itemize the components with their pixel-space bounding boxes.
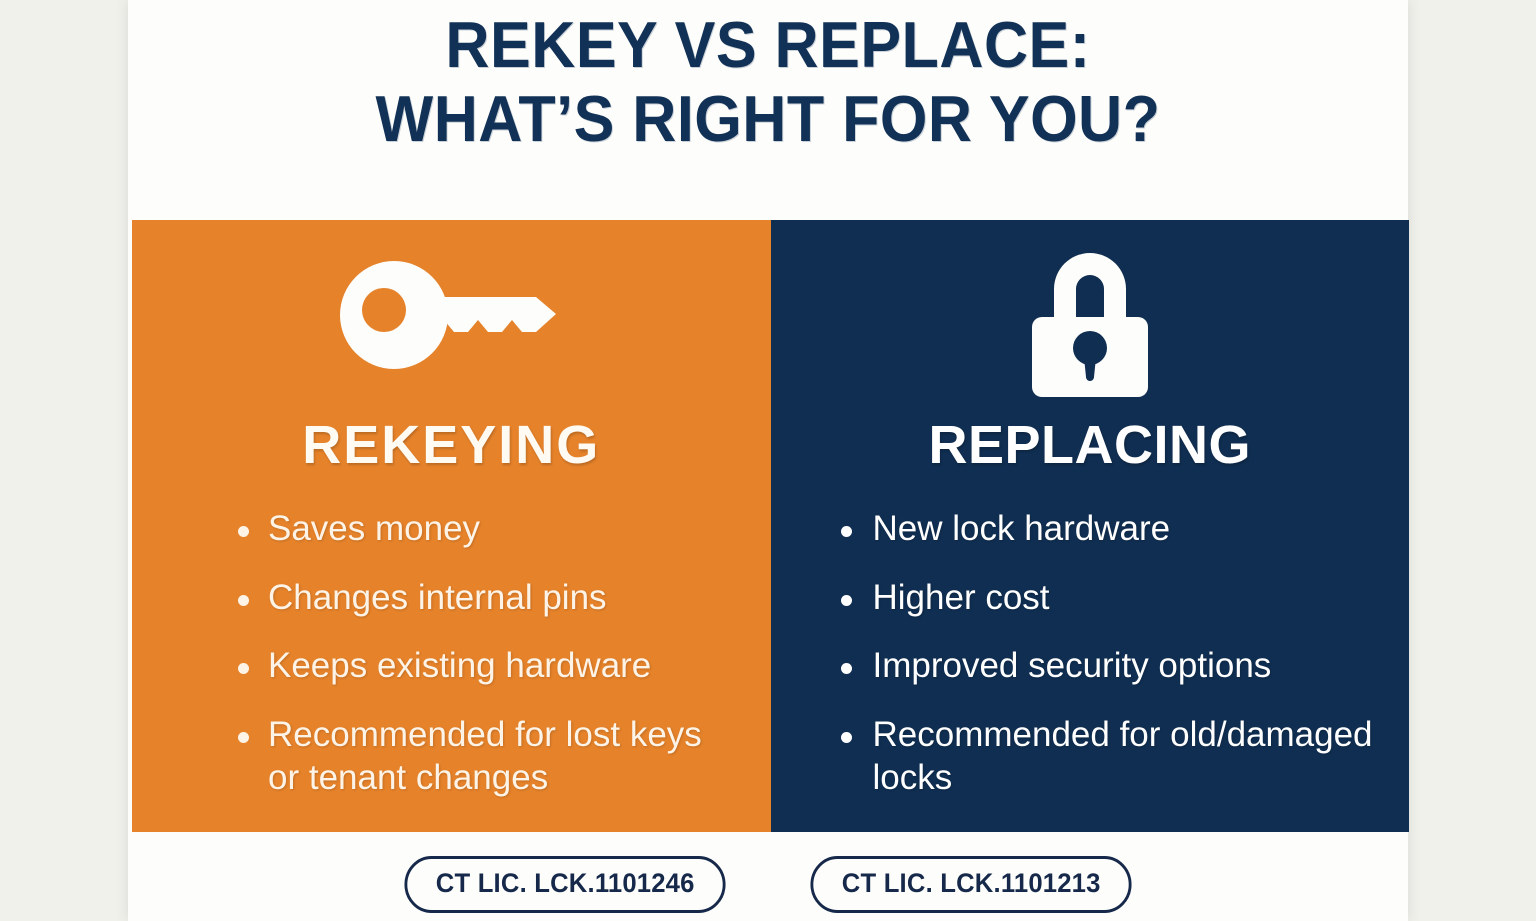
padlock-icon bbox=[771, 220, 1410, 410]
license-badges: CT LIC. LCK.1101246 CT LIC. LCK.1101213 bbox=[128, 856, 1408, 913]
panel-heading-rekeying: REKEYING bbox=[132, 418, 771, 472]
title-line-2: WHAT’S RIGHT FOR YOU? bbox=[166, 88, 1369, 150]
list-item: New lock hardware bbox=[839, 508, 1390, 551]
key-icon bbox=[132, 220, 771, 410]
infographic-stage: REKEY VS REPLACE: WHAT’S RIGHT FOR YOU? … bbox=[0, 0, 1536, 921]
list-item: Changes internal pins bbox=[236, 577, 741, 620]
list-item: Improved security options bbox=[839, 645, 1390, 688]
bullet-list-replacing: New lock hardware Higher cost Improved s… bbox=[839, 508, 1390, 825]
comparison-panels: REKEYING Saves money Changes internal pi… bbox=[132, 220, 1409, 832]
list-item: Recommended for old/damaged locks bbox=[839, 714, 1390, 799]
page-title: REKEY VS REPLACE: WHAT’S RIGHT FOR YOU? bbox=[128, 14, 1408, 150]
bullet-list-rekeying: Saves money Changes internal pins Keeps … bbox=[236, 508, 741, 825]
list-item: Saves money bbox=[236, 508, 741, 551]
list-item: Keeps existing hardware bbox=[236, 645, 741, 688]
status-badge: CT LIC. LCK.1101213 bbox=[810, 856, 1131, 913]
panel-rekeying: REKEYING Saves money Changes internal pi… bbox=[132, 220, 771, 832]
panel-replacing: REPLACING New lock hardware Higher cost … bbox=[771, 220, 1410, 832]
title-line-1: REKEY VS REPLACE: bbox=[166, 14, 1369, 76]
list-item: Recommended for lost keys or tenant chan… bbox=[236, 714, 741, 799]
status-badge: CT LIC. LCK.1101246 bbox=[404, 856, 725, 913]
panel-heading-replacing: REPLACING bbox=[771, 418, 1410, 472]
infographic-card: REKEY VS REPLACE: WHAT’S RIGHT FOR YOU? … bbox=[128, 0, 1408, 921]
list-item: Higher cost bbox=[839, 577, 1390, 620]
